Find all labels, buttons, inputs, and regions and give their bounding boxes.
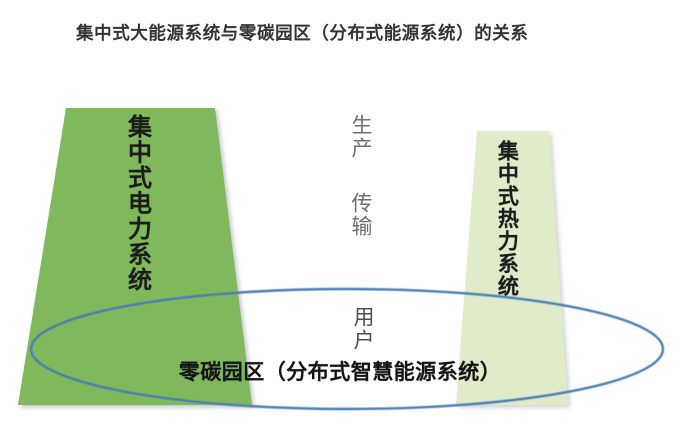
diagram-canvas: 集中式大能源系统与零碳园区（分布式能源系统）的关系 集中式电力系统 集中式热力系… <box>0 0 692 431</box>
label-zero-carbon-park: 零碳园区（分布式智慧能源系统） <box>160 356 520 386</box>
stage-label-production: 生产 <box>350 114 372 160</box>
stage-label-consumption: 用户 <box>352 306 374 352</box>
label-centralized-heat-system: 集中式热力系统 <box>496 140 517 298</box>
label-centralized-power-system: 集中式电力系统 <box>124 114 148 293</box>
stage-label-transmission: 传输 <box>350 192 372 238</box>
